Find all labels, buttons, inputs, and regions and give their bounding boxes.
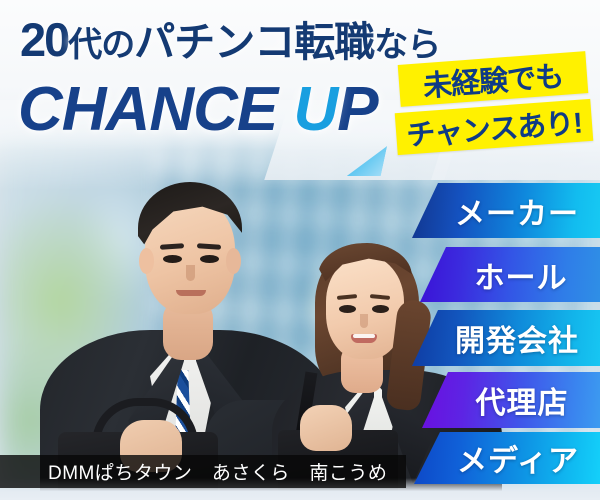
businessman-ear-right xyxy=(226,248,241,274)
businesswoman-nose xyxy=(360,314,368,328)
businesswoman-teeth xyxy=(353,334,375,338)
businesswoman-hand xyxy=(300,405,352,451)
businessman-mouth xyxy=(176,290,206,296)
category-label: 代理店 xyxy=(476,378,569,422)
category-label: メーカー xyxy=(455,189,579,233)
category-label: 開発会社 xyxy=(455,316,579,360)
category-label: ホール xyxy=(475,253,568,297)
category-bar-agency[interactable]: 代理店 xyxy=(422,372,600,428)
businesswoman-eye-right xyxy=(372,305,389,313)
businessman-eye-left xyxy=(163,255,182,263)
businessman-nose xyxy=(186,265,195,281)
recruitment-banner[interactable]: 20代のパチンコ転職なら CHANCE UP 未経験でも チャンスあり! メーカ… xyxy=(0,0,600,500)
category-label: メディア xyxy=(457,436,579,480)
credit-band: DMMぱちタウン あさくら 南こうめ xyxy=(0,455,406,488)
headline-tail: なら xyxy=(374,26,440,64)
businessman-eye-right xyxy=(200,255,219,263)
businessman-ear-left xyxy=(139,248,154,274)
credit-text: DMMぱちタウン あさくら 南こうめ xyxy=(48,458,387,485)
category-bar-development-company[interactable]: 開発会社 xyxy=(412,310,600,366)
headline-keyword: パチンコ転職 xyxy=(134,19,374,65)
category-bar-media[interactable]: メディア xyxy=(414,432,600,484)
page-title: 20代のパチンコ転職なら xyxy=(20,16,440,63)
headline-age-suffix: 代の xyxy=(68,26,134,64)
businesswoman-eye-left xyxy=(339,305,356,313)
category-bar-maker[interactable]: メーカー xyxy=(412,183,600,238)
headline-age: 20 xyxy=(20,13,68,66)
category-bar-hall[interactable]: ホール xyxy=(420,247,600,302)
